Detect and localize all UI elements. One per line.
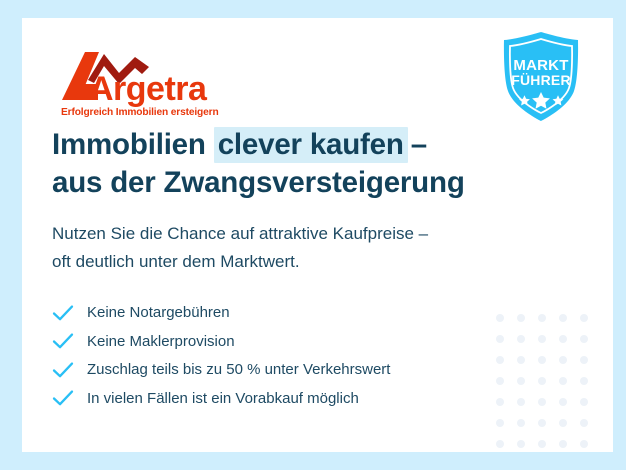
list-item: Zuschlag teils bis zu 50 % unter Verkehr…	[52, 359, 552, 381]
headline-line1-after: –	[408, 128, 427, 161]
subheadline-line1: Nutzen Sie die Chance auf attraktive Kau…	[52, 221, 552, 247]
check-icon	[52, 304, 74, 322]
list-item: Keine Notargebühren	[52, 302, 552, 324]
svg-text:Erfolgreich Immobilien ersteig: Erfolgreich Immobilien ersteigern	[61, 107, 219, 118]
dot	[580, 377, 588, 385]
dot	[559, 314, 567, 322]
check-icon	[52, 361, 74, 379]
dot	[496, 419, 504, 427]
list-item-label: In vielen Fällen ist ein Vorabkauf mögli…	[87, 391, 359, 406]
dot	[538, 419, 546, 427]
dot	[559, 335, 567, 343]
dot	[580, 356, 588, 364]
dot	[580, 314, 588, 322]
market-leader-badge: MARKT FÜHRER	[496, 29, 586, 125]
page-title: Immobilien clever kaufen–	[52, 126, 552, 164]
promo-banner: Argetra Erfolgreich Immobilien ersteiger…	[0, 0, 626, 470]
svg-text:Argetra: Argetra	[89, 70, 208, 108]
svg-text:FÜHRER: FÜHRER	[511, 72, 571, 88]
dot	[496, 440, 504, 448]
list-item-label: Keine Maklerprovision	[87, 334, 235, 349]
page-title-line2: aus der Zwangsversteigerung	[52, 164, 552, 202]
dot	[559, 419, 567, 427]
dot	[559, 356, 567, 364]
dot	[580, 419, 588, 427]
benefits-list: Keine Notargebühren Keine Maklerprovisio…	[52, 302, 552, 410]
dot	[580, 398, 588, 406]
list-item: In vielen Fällen ist ein Vorabkauf mögli…	[52, 387, 552, 409]
dot	[580, 440, 588, 448]
dot	[538, 440, 546, 448]
check-icon	[52, 332, 74, 350]
check-icon	[52, 389, 74, 407]
banner-content: Immobilien clever kaufen– aus der Zwangs…	[52, 126, 552, 416]
dot	[517, 419, 525, 427]
headline-line1-before: Immobilien	[52, 128, 214, 161]
dot	[580, 335, 588, 343]
subheadline-line2: oft deutlich unter dem Marktwert.	[52, 249, 552, 275]
list-item-label: Zuschlag teils bis zu 50 % unter Verkehr…	[87, 362, 390, 377]
list-item: Keine Maklerprovision	[52, 330, 552, 352]
dot	[559, 440, 567, 448]
list-item-label: Keine Notargebühren	[87, 305, 230, 320]
dot	[517, 440, 525, 448]
banner-card: Argetra Erfolgreich Immobilien ersteiger…	[22, 18, 613, 452]
dot	[559, 377, 567, 385]
dot	[559, 398, 567, 406]
argetra-logo[interactable]: Argetra Erfolgreich Immobilien ersteiger…	[57, 42, 222, 120]
headline-highlight: clever kaufen	[214, 127, 408, 163]
